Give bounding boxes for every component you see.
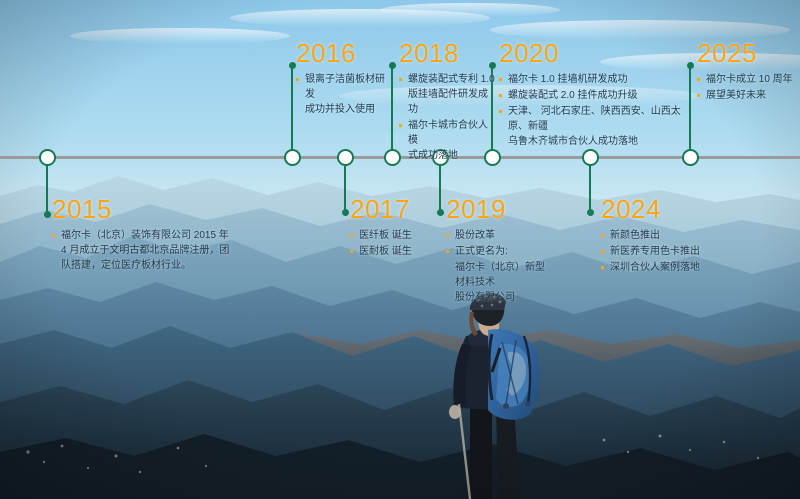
entry-2020-bullet: 福尔卡 1.0 挂墙机研发成功	[499, 72, 684, 87]
node-2016-stem	[291, 65, 293, 155]
entry-2016[interactable]: 2016银离子洁菌板材研发 成功并投入使用	[296, 40, 391, 118]
entry-2017-bullet: 医耐板 诞生	[350, 244, 440, 259]
entry-2016-bullet-list: 银离子洁菌板材研发 成功并投入使用	[296, 72, 391, 117]
node-2015-endpoint	[44, 211, 51, 218]
node-2024-endpoint	[587, 209, 594, 216]
entry-2025[interactable]: 2025福尔卡成立 10 周年展望美好未来	[697, 40, 800, 104]
entry-2018-bullet: 螺旋装配式专利 1.0 版挂墙配件研发成功	[399, 72, 497, 117]
node-2016[interactable]	[284, 149, 301, 166]
entry-2016-year-label: 2016	[296, 40, 391, 66]
entry-2017-bullet-list: 医纤板 诞生医耐板 诞生	[350, 228, 440, 259]
entry-2019[interactable]: 2019股份改革正式更名为:福尔卡（北京）新型材料技术 股份有限公司	[446, 196, 546, 306]
entry-2024-bullet-list: 新颜色推出新医养专用色卡推出深圳合伙人案例落地	[601, 228, 726, 275]
entry-2017[interactable]: 2017医纤板 诞生医耐板 诞生	[350, 196, 440, 260]
entry-2015[interactable]: 2015福尔卡（北京）装饰有限公司 2015 年 4 月成立于文明古都北京品牌注…	[52, 196, 232, 274]
node-2025-stem	[689, 65, 691, 155]
entry-2015-year-label: 2015	[52, 196, 232, 222]
node-2017[interactable]	[337, 149, 354, 166]
entry-2025-bullet: 展望美好未来	[697, 88, 800, 103]
node-2025-endpoint	[687, 62, 694, 69]
entry-2020-bullet: 天津、 河北石家庄、陕西西安、山西太原、新疆 乌鲁木齐城市合伙人成功落地	[499, 104, 684, 149]
node-2025[interactable]	[682, 149, 699, 166]
node-2018-stem	[391, 65, 393, 155]
node-2017-stem	[344, 158, 346, 213]
entry-2024[interactable]: 2024新颜色推出新医养专用色卡推出深圳合伙人案例落地	[601, 196, 726, 276]
entry-2024-bullet: 深圳合伙人案例落地	[601, 260, 726, 275]
entry-2025-bullet-list: 福尔卡成立 10 周年展望美好未来	[697, 72, 800, 103]
entry-2020-bullet: 螺旋装配式 2.0 挂件成功升级	[499, 88, 684, 103]
entry-2025-bullet: 福尔卡成立 10 周年	[697, 72, 800, 87]
entry-2025-year-label: 2025	[697, 40, 800, 66]
node-2016-endpoint	[289, 62, 296, 69]
entry-2018-bullet-list: 螺旋装配式专利 1.0 版挂墙配件研发成功福尔卡城市合伙人模 式成功落地	[399, 72, 497, 163]
entry-2019-bullet: 正式更名为:	[446, 244, 546, 259]
entry-2017-bullet: 医纤板 诞生	[350, 228, 440, 243]
entry-2020-year-label: 2020	[499, 40, 684, 66]
entry-2024-bullet: 新医养专用色卡推出	[601, 244, 726, 259]
node-2015[interactable]	[39, 149, 56, 166]
timeline-layer: 2015福尔卡（北京）装饰有限公司 2015 年 4 月成立于文明古都北京品牌注…	[0, 0, 800, 499]
timeline-infographic: 2015福尔卡（北京）装饰有限公司 2015 年 4 月成立于文明古都北京品牌注…	[0, 0, 800, 499]
node-2018[interactable]	[384, 149, 401, 166]
entry-2015-bullet: 福尔卡（北京）装饰有限公司 2015 年 4 月成立于文明古都北京品牌注册，团 …	[52, 228, 232, 273]
entry-2024-year-label: 2024	[601, 196, 726, 222]
entry-2019-bullet-list: 股份改革正式更名为:福尔卡（北京）新型材料技术 股份有限公司	[446, 228, 546, 305]
node-2024-stem	[589, 158, 591, 213]
entry-2019-year-label: 2019	[446, 196, 546, 222]
node-2015-stem	[46, 158, 48, 215]
entry-2019-bullet: 股份改革	[446, 228, 546, 243]
entry-2018-year-label: 2018	[399, 40, 497, 66]
entry-2024-bullet: 新颜色推出	[601, 228, 726, 243]
entry-2019-bullet: 福尔卡（北京）新型材料技术 股份有限公司	[446, 260, 546, 305]
entry-2020[interactable]: 2020福尔卡 1.0 挂墙机研发成功螺旋装配式 2.0 挂件成功升级天津、 河…	[499, 40, 684, 150]
entry-2015-bullet-list: 福尔卡（北京）装饰有限公司 2015 年 4 月成立于文明古都北京品牌注册，团 …	[52, 228, 232, 273]
entry-2018[interactable]: 2018螺旋装配式专利 1.0 版挂墙配件研发成功福尔卡城市合伙人模 式成功落地	[399, 40, 497, 164]
node-2017-endpoint	[342, 209, 349, 216]
entry-2018-bullet: 福尔卡城市合伙人模 式成功落地	[399, 118, 497, 163]
entry-2017-year-label: 2017	[350, 196, 440, 222]
entry-2020-bullet-list: 福尔卡 1.0 挂墙机研发成功螺旋装配式 2.0 挂件成功升级天津、 河北石家庄…	[499, 72, 684, 149]
entry-2016-bullet: 银离子洁菌板材研发 成功并投入使用	[296, 72, 391, 117]
node-2024[interactable]	[582, 149, 599, 166]
